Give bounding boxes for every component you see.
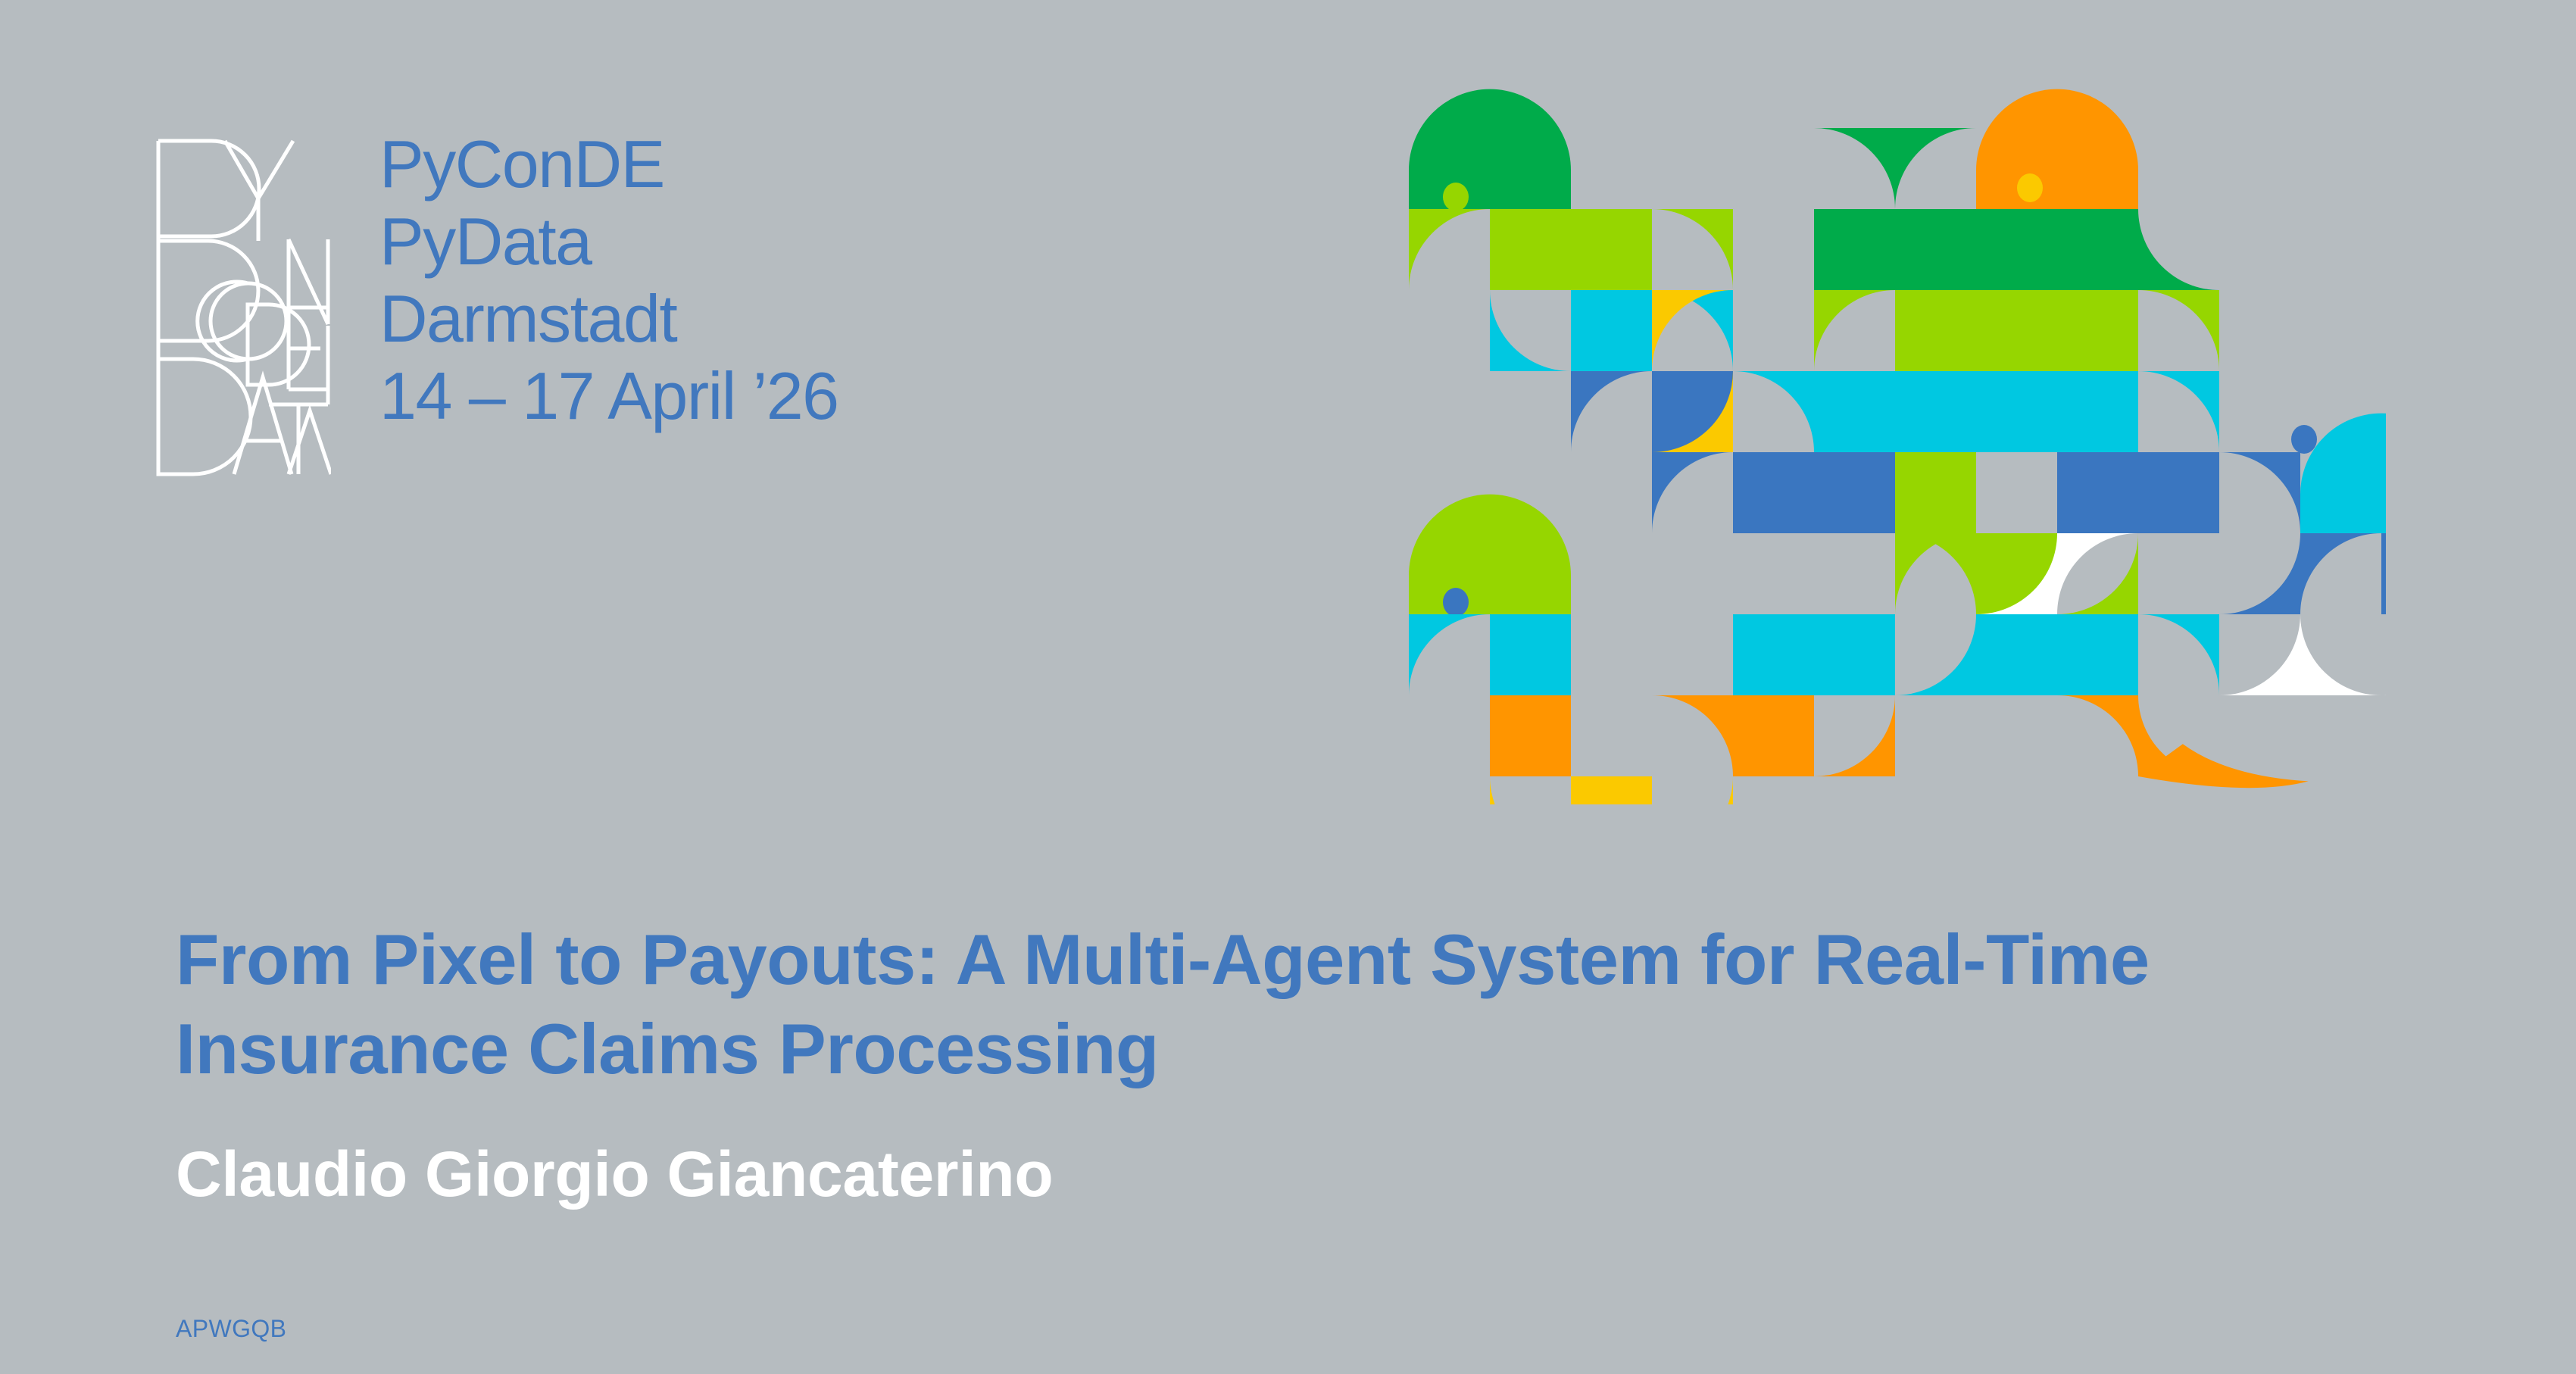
wordmark-line-city: Darmstadt — [379, 280, 838, 358]
wordmark-line-dates: 14 – 17 April ’26 — [379, 358, 838, 435]
wordmark-line-pyconde: PyConDE — [379, 126, 838, 203]
session-code: APWGQB — [176, 1314, 286, 1343]
speaker-name: Claudio Giorgio Giancaterino — [176, 1136, 1053, 1212]
wordmark-line-pydata: PyData — [379, 203, 838, 280]
talk-title: From Pixel to Payouts: A Multi-Agent Sys… — [176, 915, 2297, 1094]
orange-bird-head — [1976, 89, 2138, 209]
orange-bird-eye — [2017, 173, 2043, 202]
lime-bird-eye — [1443, 588, 1469, 617]
pyconde-birds-illustration — [1409, 47, 2386, 804]
event-wordmark: PyConDE PyData Darmstadt 14 – 17 April ’… — [379, 126, 838, 435]
orange-tail-tip — [2138, 744, 2309, 788]
green-bird-head — [1409, 89, 1571, 209]
pyconde-pydata-monogram-icon — [155, 135, 331, 477]
green-bird-eye — [1443, 183, 1469, 211]
lime-bird-head — [1409, 495, 1571, 614]
event-logo: PyConDE PyData Darmstadt 14 – 17 April ’… — [155, 135, 838, 477]
cyan-bird-eye — [2291, 425, 2317, 454]
